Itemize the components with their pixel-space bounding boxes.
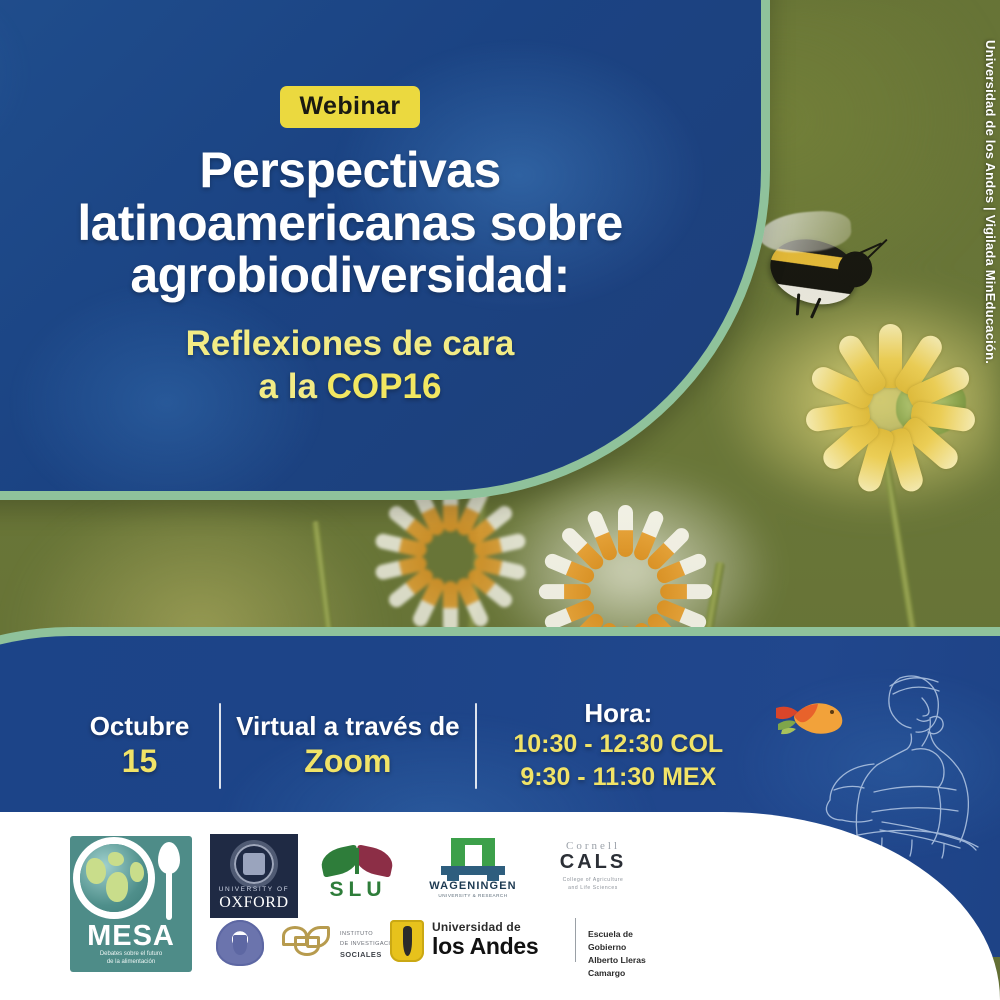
hours-mexico: 9:30 - 11:30 MEX — [477, 761, 760, 794]
stem-icon — [355, 848, 359, 874]
mesa-tagline-2: de la alimentación — [76, 958, 186, 966]
legal-vertical-text: Universidad de los Andes | Vigilada MinE… — [983, 40, 998, 364]
logo-unam — [210, 918, 270, 970]
mesa-name: MESA — [70, 920, 192, 953]
title-line-1: Perspectivas — [0, 144, 700, 197]
uniandes-name: los Andes — [432, 933, 538, 960]
school-line-1: Escuela de Gobierno — [588, 928, 670, 954]
logo-wageningen: WAGENINGEN UNIVERSITY & RESEARCH — [415, 838, 531, 908]
subtitle-prefix: a la — [259, 367, 327, 406]
logo-slu: SLU — [315, 844, 401, 908]
wageningen-name: WAGENINGEN — [415, 880, 531, 892]
info-date: Octubre 15 — [60, 711, 219, 780]
date-month: Octubre — [60, 711, 219, 742]
leaf-icon — [353, 844, 396, 877]
logo-cornell-cals: Cornell CALS College of Agriculture and … — [538, 840, 648, 902]
subtitle-line-2: a la COP16 — [0, 365, 700, 409]
subtitle-line-1: Reflexiones de cara — [0, 322, 700, 366]
date-day: 15 — [60, 742, 219, 780]
title-line-2: latinoamericanas sobre — [0, 197, 700, 250]
partner-logos: MESA Debates sobre el futuro de la alime… — [60, 814, 660, 1000]
webinar-badge: Webinar — [280, 86, 421, 128]
logo-uniandes: Universidad de los Andes Escuela de Gobi… — [390, 914, 670, 972]
cals-tagline: College of Agriculture and Life Sciences — [538, 877, 648, 892]
unam-shield-icon — [216, 920, 264, 966]
bird-icon — [772, 686, 848, 742]
page-subtitle: Reflexiones de cara a la COP16 — [0, 322, 700, 410]
header-block: Webinar Perspectivas latinoamericanas so… — [0, 86, 700, 409]
page-title: Perspectivas latinoamericanas sobre agro… — [0, 144, 700, 302]
logo-oxford: UNIVERSITY OF OXFORD — [210, 834, 298, 918]
uniandes-mark-icon — [390, 920, 424, 962]
uniandes-school: Escuela de Gobierno Alberto Lleras Camar… — [588, 928, 670, 980]
mesa-tagline-1: Debates sobre el futuro — [76, 950, 186, 958]
mesa-tagline: Debates sobre el futuro de la alimentaci… — [76, 950, 186, 966]
globe-icon — [80, 844, 148, 912]
wageningen-tagline: UNIVERSITY & RESEARCH — [415, 893, 531, 898]
oxford-top: UNIVERSITY OF — [210, 886, 298, 893]
info-hours: Hora: 10:30 - 12:30 COL 9:30 - 11:30 MEX — [477, 698, 760, 794]
wageningen-mark-icon — [441, 838, 505, 878]
oxford-name: OXFORD — [210, 894, 298, 912]
school-line-2: Alberto Lleras Camargo — [588, 954, 670, 980]
uniandes-divider — [575, 918, 576, 962]
info-platform: Virtual a través de Zoom — [221, 711, 475, 780]
logo-mesa: MESA Debates sobre el futuro de la alime… — [70, 836, 192, 972]
platform-label: Virtual a través de — [221, 711, 475, 742]
title-line-3: agrobiodiversidad: — [0, 249, 700, 302]
hours-label: Hora: — [477, 698, 760, 729]
cals-tagline-1: College of Agriculture — [538, 877, 648, 885]
footer-logo-strip: MESA Debates sobre el futuro de la alime… — [0, 812, 1000, 1000]
cop16-highlight: COP16 — [327, 367, 442, 406]
poster-canvas: Webinar Perspectivas latinoamericanas so… — [0, 0, 1000, 1000]
platform-name: Zoom — [221, 742, 475, 780]
iis-line-3: SOCIALES — [340, 950, 382, 959]
uniandes-top: Universidad de — [432, 920, 521, 934]
spoon-icon — [158, 842, 180, 920]
cals-word: CALS — [538, 851, 648, 874]
slu-name: SLU — [315, 878, 401, 902]
event-info-bar: Octubre 15 Virtual a través de Zoom Hora… — [60, 693, 760, 798]
iis-mark-icon — [278, 922, 334, 964]
hours-colombia: 10:30 - 12:30 COL — [477, 728, 760, 761]
cals-tagline-2: and Life Sciences — [538, 885, 648, 893]
oxford-crest-icon — [234, 844, 274, 884]
